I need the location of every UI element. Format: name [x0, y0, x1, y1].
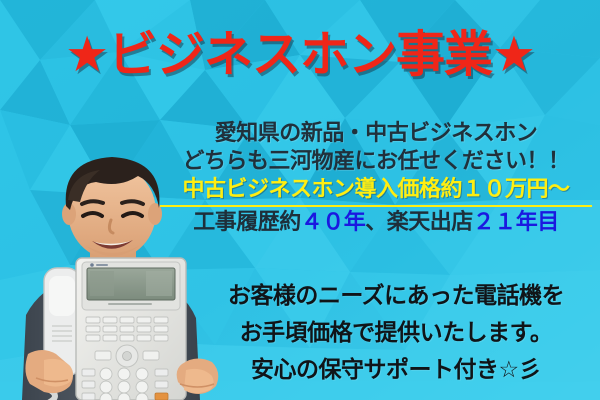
copy-line-2: どちらも三河物産にお任せください！！: [160, 148, 592, 176]
record-line: 工事履歴約４０年、楽天出店２１年目: [160, 209, 592, 237]
copy-line-1: 愛知県の新品・中古ビジネスホン: [160, 120, 592, 148]
bottom-line-1: お客様のニーズにあった電話機を: [196, 278, 596, 315]
price-highlight: 中古ビジネスホン導入価格約１０万円〜: [160, 176, 592, 207]
copy-block: 愛知県の新品・中古ビジネスホン どちらも三河物産にお任せください！！ 中古ビジネ…: [160, 120, 592, 237]
bottom-line-2: お手頃価格で提供いたします。: [196, 315, 596, 352]
promo-banner: ★ビジネスホン事業★: [0, 0, 600, 400]
record-seg-1: 工事履歴約: [193, 210, 301, 235]
record-seg-4: ２１年目: [473, 210, 559, 235]
bottom-copy-block: お客様のニーズにあった電話機を お手頃価格で提供いたします。 安心の保守サポート…: [196, 278, 596, 389]
record-seg-3: 、楽天出店: [365, 210, 473, 235]
business-phone: [76, 258, 186, 400]
bottom-line-3: 安心の保守サポート付き☆彡: [196, 352, 596, 389]
banner-title: ★ビジネスホン事業★: [0, 30, 600, 79]
banner-title-text: ★ビジネスホン事業★: [65, 30, 535, 79]
record-seg-2: ４０年: [301, 210, 366, 235]
